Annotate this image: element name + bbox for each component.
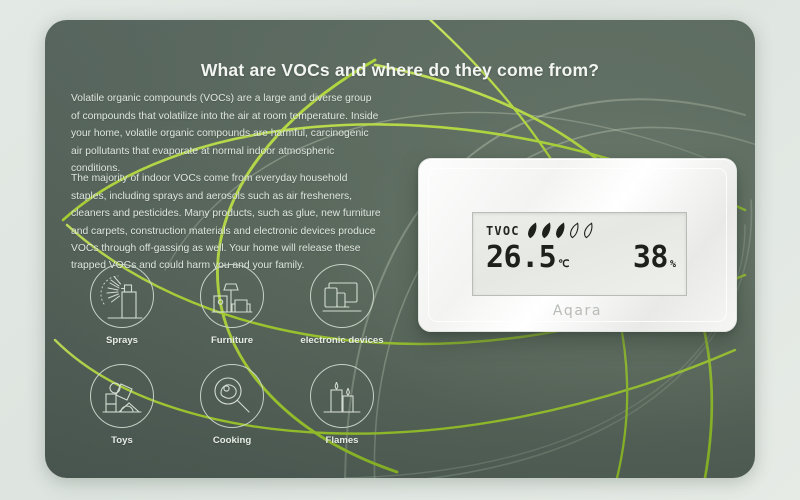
source-label: electronic devices [300, 335, 383, 346]
content-card: What are VOCs and where do they come fro… [45, 20, 755, 478]
lcd-readings-row: 26.5 ℃ 38 % [486, 243, 676, 273]
temperature-reading: 26.5 ℃ [486, 243, 569, 273]
cooking-pan-icon [200, 364, 264, 428]
spray-can-icon [90, 264, 154, 328]
intro-paragraph: Volatile organic compounds (VOCs) are a … [71, 90, 381, 177]
page-title: What are VOCs and where do they come fro… [90, 60, 710, 81]
sources-paragraph: The majority of indoor VOCs come from ev… [71, 170, 381, 274]
temperature-value: 26.5 [486, 243, 556, 273]
aqara-sensor-device: TVOC [418, 158, 737, 332]
temperature-unit: ℃ [558, 259, 569, 270]
source-item-flames[interactable]: Flames [287, 364, 397, 464]
leaf-icon-filled-2 [540, 222, 552, 239]
humidity-reading: 38 % [633, 243, 676, 273]
voc-source-grid: Sprays Furniture [67, 264, 397, 464]
lcd-tvoc-row: TVOC [486, 222, 594, 239]
tvoc-label: TVOC [486, 224, 520, 238]
toys-icon [90, 364, 154, 428]
page-root: What are VOCs and where do they come fro… [0, 0, 800, 500]
source-item-sprays[interactable]: Sprays [67, 264, 177, 364]
electronic-devices-icon [310, 264, 374, 328]
leaf-icon-filled-1 [526, 222, 538, 239]
leaf-icon-empty-5 [582, 222, 594, 239]
lcd-display: TVOC [472, 212, 687, 296]
source-label: Toys [111, 435, 133, 446]
source-item-electronic-devices[interactable]: electronic devices [287, 264, 397, 364]
humidity-unit: % [670, 259, 676, 270]
furniture-icon [200, 264, 264, 328]
leaf-icon-empty-4 [568, 222, 580, 239]
humidity-value: 38 [633, 243, 668, 273]
leaf-icon-filled-3 [554, 222, 566, 239]
source-item-cooking[interactable]: Cooking [177, 364, 287, 464]
tvoc-leaf-indicator [526, 222, 594, 239]
source-label: Cooking [213, 435, 251, 446]
source-item-toys[interactable]: Toys [67, 364, 177, 464]
source-label: Flames [325, 435, 358, 446]
aqara-brand-logo: Aqara [419, 303, 736, 319]
source-label: Furniture [211, 335, 253, 346]
source-label: Sprays [106, 335, 138, 346]
candle-flames-icon [310, 364, 374, 428]
source-item-furniture[interactable]: Furniture [177, 264, 287, 364]
